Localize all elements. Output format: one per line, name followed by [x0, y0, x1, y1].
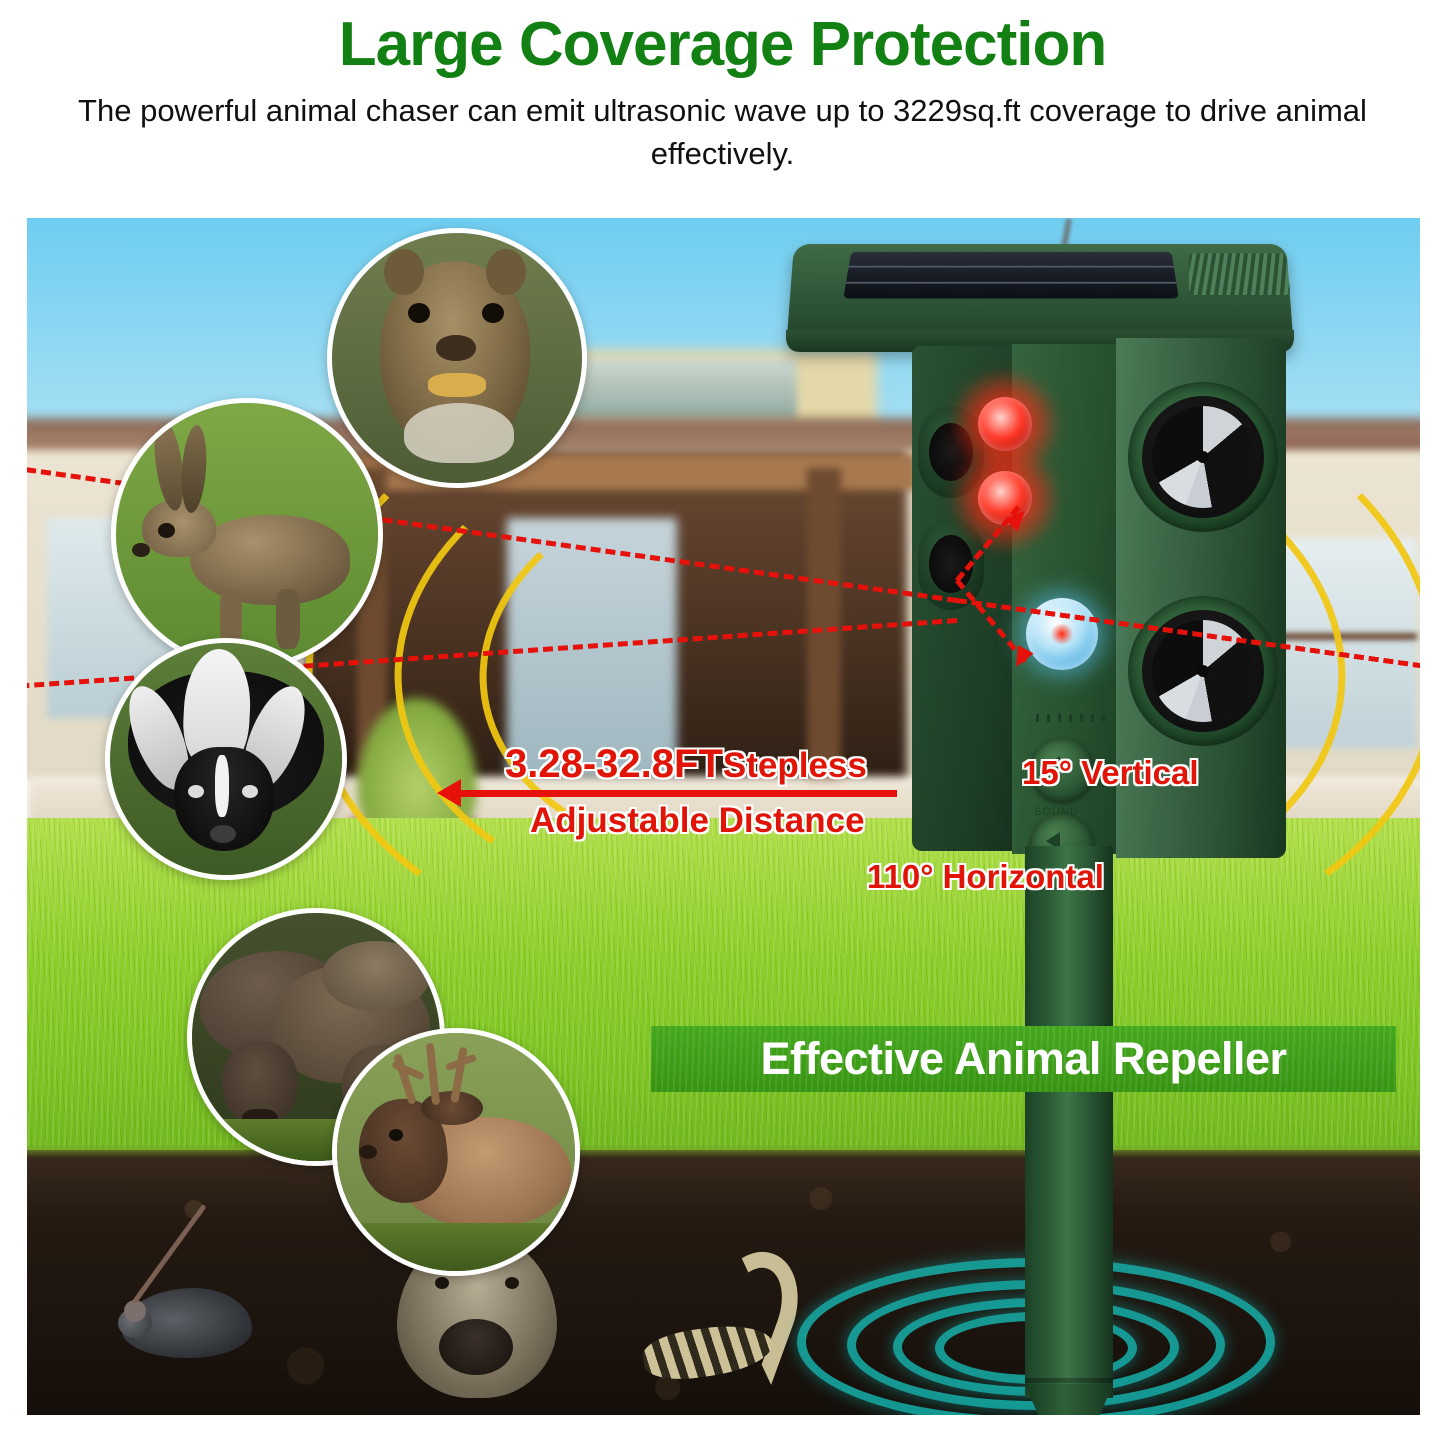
distance-annotation-line1: 3.28-32.8FTStepless	[505, 742, 867, 787]
solar-cell	[843, 252, 1179, 299]
vent-dots	[1036, 714, 1106, 722]
distance-value: 3.28-32.8FT	[505, 742, 723, 786]
animal-circle-skunk	[105, 638, 347, 880]
snake	[647, 1250, 797, 1410]
page-subtitle: The powerful animal chaser can emit ultr…	[53, 76, 1393, 176]
horizontal-angle-label: 110° Horizontal	[867, 858, 1104, 896]
scene-photo: SOUND FREQUENCY 3.28-32.8FTStepless Adju…	[27, 218, 1420, 1415]
animal-circle-rabbit	[111, 398, 383, 670]
deer-photo	[337, 1033, 575, 1271]
ultrasonic-speaker-upper	[1128, 382, 1278, 532]
distance-word: Stepless	[723, 746, 867, 785]
product-infographic: Large Coverage Protection The powerful a…	[0, 0, 1445, 1445]
vertical-angle-label: 15° Vertical	[1022, 754, 1199, 792]
page-title: Large Coverage Protection	[0, 0, 1445, 76]
vent-grille	[1189, 253, 1291, 295]
distance-arrow	[459, 790, 897, 797]
rabbit-photo	[116, 403, 378, 665]
header: Large Coverage Protection The powerful a…	[0, 0, 1445, 176]
ground-stake-pole	[1025, 846, 1113, 1398]
stake-tip	[1025, 1384, 1113, 1415]
skunk-photo	[110, 643, 342, 875]
banner-text: Effective Animal Repeller	[651, 1026, 1396, 1092]
animal-circle-deer	[332, 1028, 580, 1276]
stake-ring	[1025, 1378, 1113, 1383]
bottom-banner: Effective Animal Repeller	[651, 1026, 1396, 1092]
distance-annotation-line2: Adjustable Distance	[530, 801, 865, 841]
ultrasonic-speaker-lower	[1128, 596, 1278, 746]
